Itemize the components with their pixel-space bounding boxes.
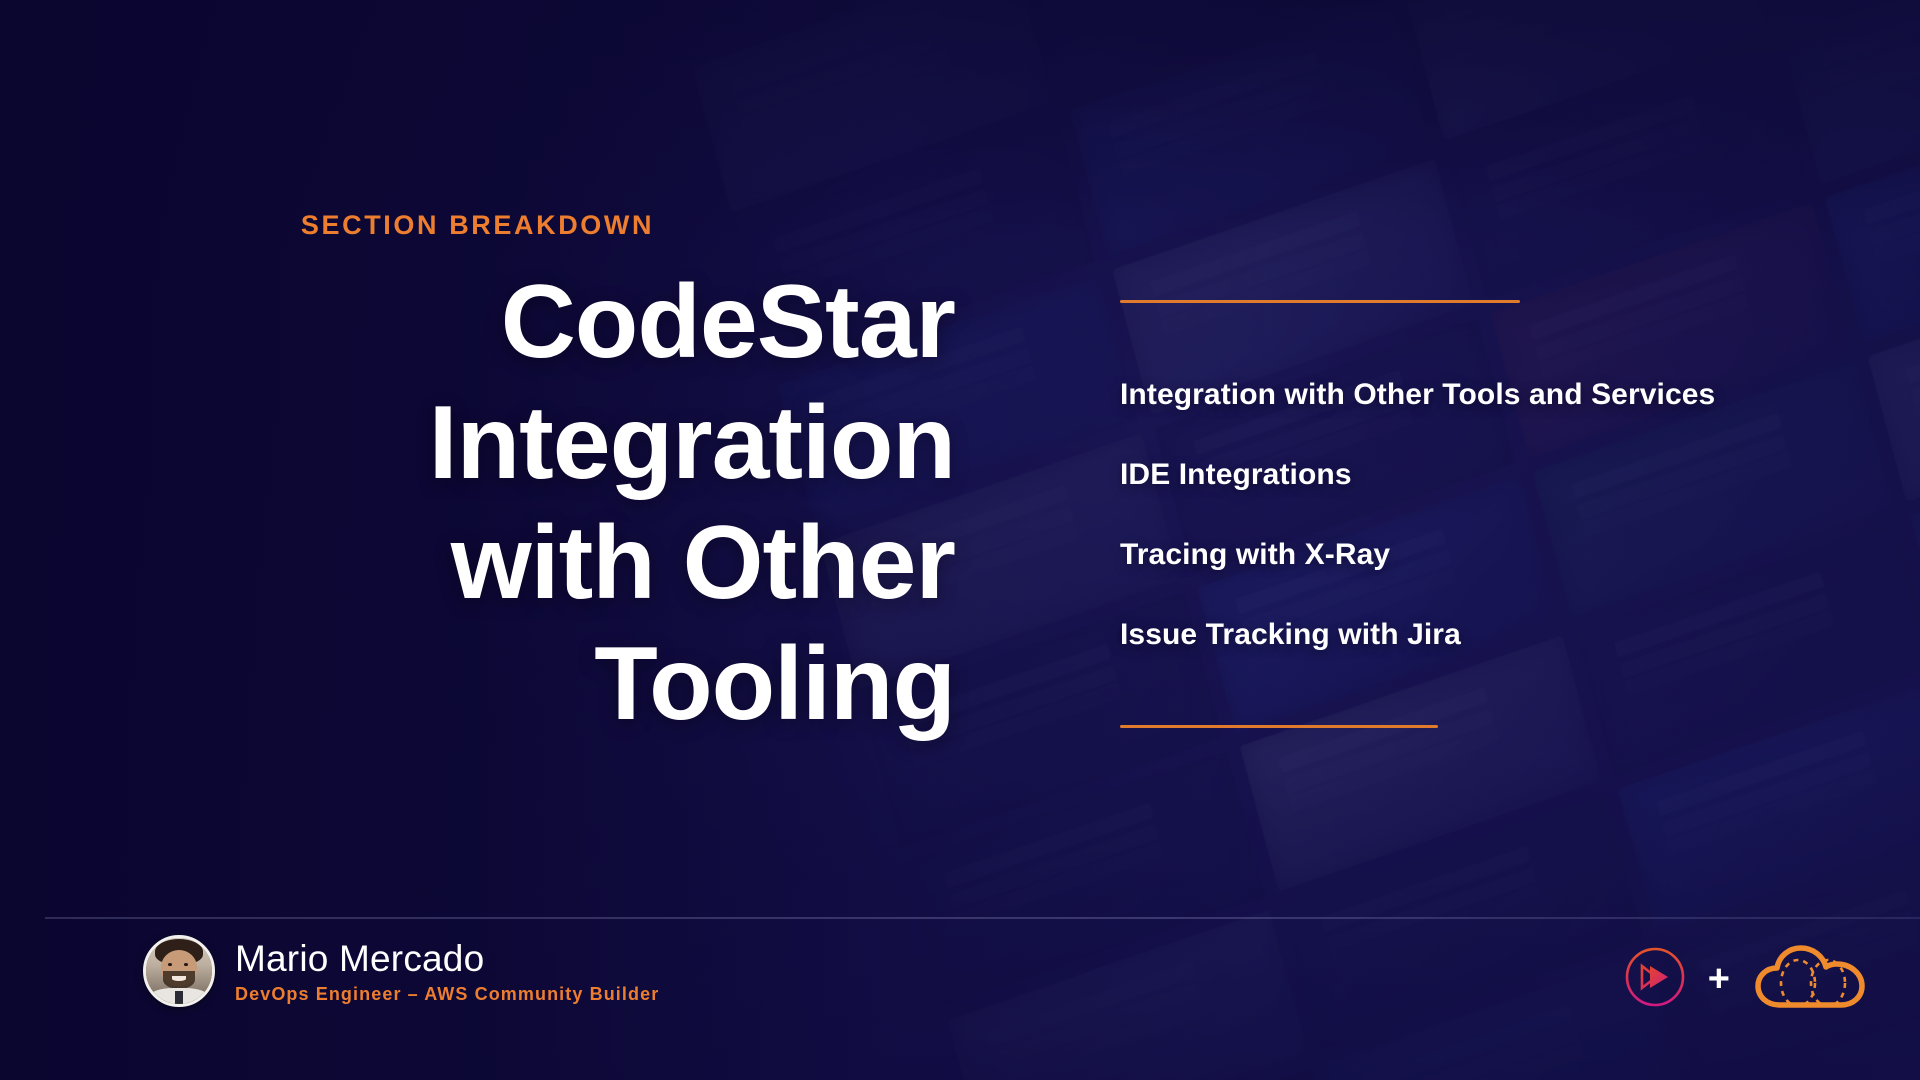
slide-footer: Mario Mercado DevOps Engineer – AWS Comm… [0,917,1920,1080]
plus-separator-icon: + [1708,960,1730,998]
list-item[interactable]: Tracing with X-Ray [1120,515,1780,595]
section-topics-panel: Integration with Other Tools and Service… [1120,300,1780,728]
presenter-name: Mario Mercado [235,938,659,980]
presenter-block: Mario Mercado DevOps Engineer – AWS Comm… [143,935,659,1007]
title-line: Integration [429,385,955,501]
presenter-role: DevOps Engineer – AWS Community Builder [235,984,659,1005]
list-item[interactable]: IDE Integrations [1120,435,1780,515]
page-title: CodeStar Integration with Other Tooling [0,262,955,745]
title-line: with Other [451,505,955,621]
title-line: Tooling [594,626,955,742]
brand-logos: + [1624,943,1870,1016]
topics-list: Integration with Other Tools and Service… [1120,355,1780,675]
list-item[interactable]: Issue Tracking with Jira [1120,595,1780,675]
avatar [143,935,215,1007]
play-circle-logo-icon[interactable] [1624,946,1686,1013]
title-line: CodeStar [501,264,955,380]
topics-divider-bottom [1120,725,1438,728]
cloud-logo-icon[interactable] [1752,943,1870,1016]
slide-canvas: SECTION BREAKDOWN CodeStar Integration w… [0,0,1920,1080]
section-eyebrow-label: SECTION BREAKDOWN [0,210,955,241]
list-item[interactable]: Integration with Other Tools and Service… [1120,355,1780,435]
